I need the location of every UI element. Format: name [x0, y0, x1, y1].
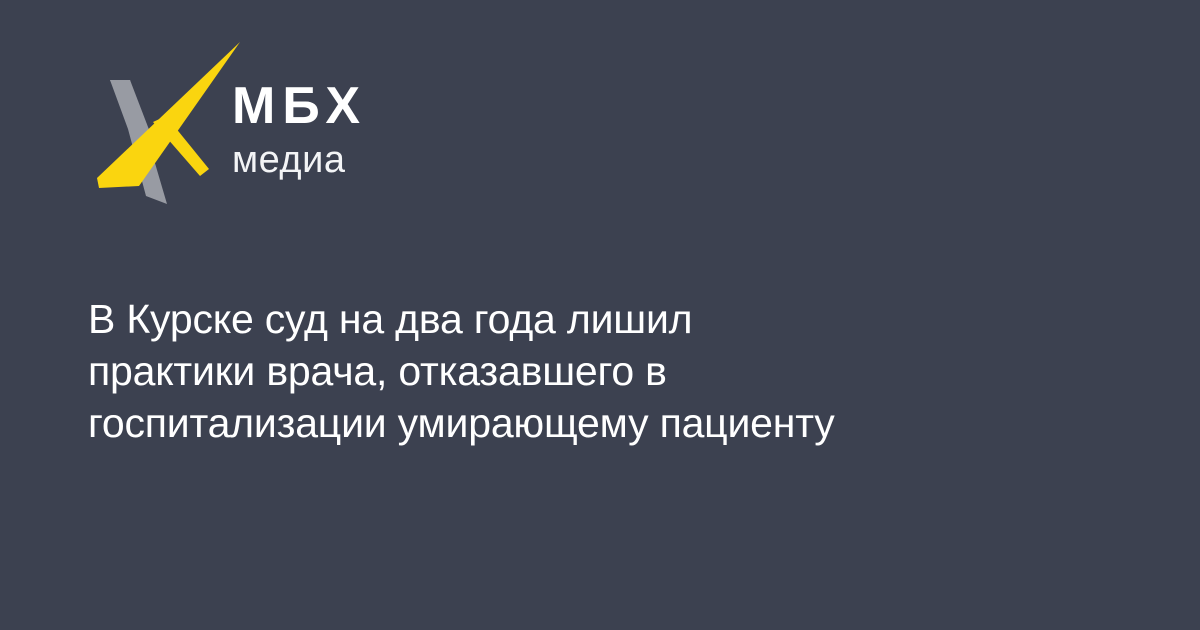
headline-line-1: В Курске суд на два года лишил [88, 293, 1118, 345]
x-mark-yellow-wedge [97, 42, 240, 188]
headline-line-3: госпитализации умирающему пациенту [88, 397, 1118, 449]
x-mark-svg [90, 36, 255, 211]
headline-line-2: практики врача, отказавшего в [88, 345, 1118, 397]
logo-wordmark-secondary: медиа [232, 138, 512, 182]
logo-wordmark: МБХ медиа [232, 80, 512, 182]
social-share-card: МБХ медиа В Курске суд на два года лишил… [0, 0, 1200, 630]
logo-wordmark-primary: МБХ [232, 80, 512, 132]
site-logo[interactable]: МБХ медиа [90, 36, 510, 211]
mbkh-x-mark-icon [90, 36, 255, 211]
article-headline: В Курске суд на два года лишил практики … [88, 293, 1118, 449]
